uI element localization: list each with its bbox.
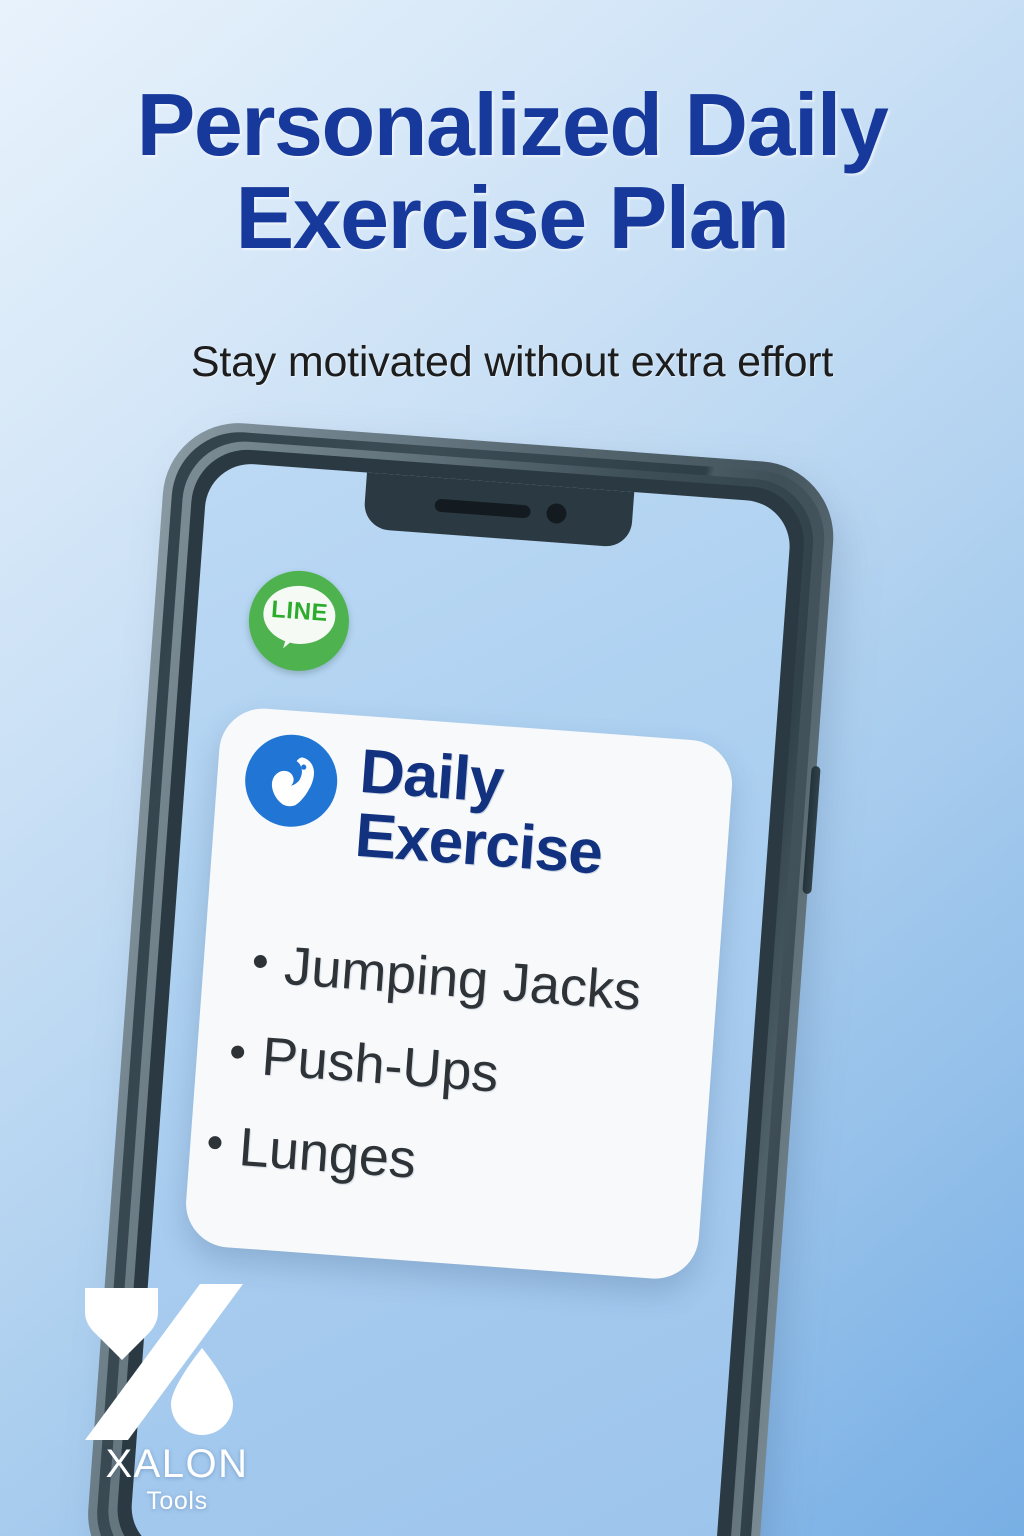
- brand-tagline: Tools: [62, 1487, 292, 1516]
- bullet-icon: [208, 1136, 222, 1150]
- brand-watermark: XALON Tools: [62, 1282, 292, 1512]
- headline-line-2: Exercise Plan: [0, 171, 1024, 264]
- exercise-list: Jumping Jacks Push-Ups Lunges: [202, 934, 717, 1246]
- xalon-logo-icon: [80, 1282, 245, 1442]
- bullet-icon: [253, 955, 267, 969]
- exercise-label: Jumping Jacks: [283, 939, 643, 1019]
- daily-exercise-card[interactable]: Daily Exercise Jumping Jacks Push-Ups: [183, 706, 735, 1282]
- list-item: Jumping Jacks: [252, 937, 717, 1025]
- line-app-icon[interactable]: LINE: [245, 567, 352, 674]
- bullet-icon: [231, 1045, 245, 1059]
- card-header: Daily Exercise: [239, 732, 707, 894]
- page-title: Personalized Daily Exercise Plan: [0, 78, 1024, 265]
- line-logo-label: LINE: [249, 594, 351, 629]
- card-title: Daily Exercise: [353, 740, 609, 887]
- poster-canvas: Personalized Daily Exercise Plan Stay mo…: [0, 0, 1024, 1536]
- bicep-muscle-icon: [242, 732, 340, 830]
- page-subtitle: Stay motivated without extra effort: [0, 338, 1024, 387]
- earpiece-speaker-icon: [434, 499, 531, 519]
- exercise-label: Lunges: [237, 1120, 418, 1187]
- brand-name: XALON: [62, 1442, 292, 1487]
- card-title-line-2: Exercise: [353, 804, 604, 886]
- list-item: Push-Ups: [229, 1027, 710, 1116]
- front-camera-icon: [546, 503, 567, 524]
- exercise-label: Push-Ups: [260, 1029, 500, 1100]
- list-item: Lunges: [206, 1118, 703, 1208]
- headline-line-1: Personalized Daily: [137, 75, 888, 174]
